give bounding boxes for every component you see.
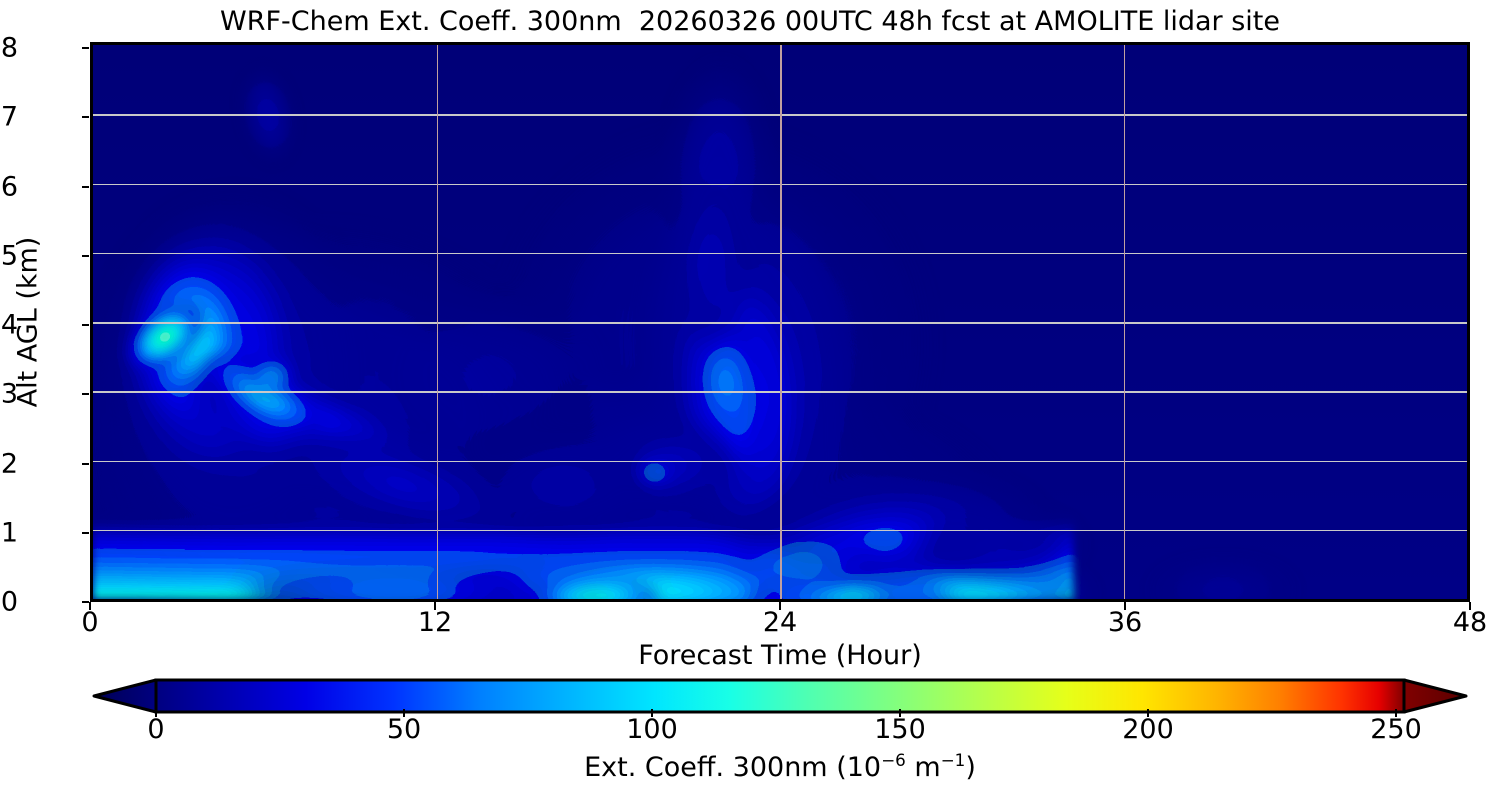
y-tick-label: 7 bbox=[0, 102, 18, 133]
colorbar-tick-label: 50 bbox=[387, 714, 421, 745]
colorbar-gradient bbox=[90, 676, 1470, 716]
colorbar-title: Ext. Coeff. 300nm (10−6 m−1) bbox=[584, 752, 976, 783]
y-tick-label: 0 bbox=[0, 587, 18, 618]
contour-field bbox=[93, 45, 1467, 599]
x-axis-label: Forecast Time (Hour) bbox=[638, 640, 922, 671]
x-tick-label: 0 bbox=[81, 607, 98, 638]
colorbar-tick-label: 250 bbox=[1370, 714, 1422, 745]
colorbar-title-mid: m bbox=[906, 752, 941, 783]
colorbar-tick-label: 150 bbox=[874, 714, 926, 745]
y-tick-label: 8 bbox=[0, 33, 18, 64]
colorbar-title-suffix: ) bbox=[965, 752, 976, 783]
page-title: WRF-Chem Ext. Coeff. 300nm 20260326 00UT… bbox=[0, 6, 1500, 37]
figure-root: WRF-Chem Ext. Coeff. 300nm 20260326 00UT… bbox=[0, 0, 1500, 800]
x-tick-label: 36 bbox=[1108, 607, 1142, 638]
x-tick-label: 24 bbox=[763, 607, 797, 638]
colorbar-tick-label: 100 bbox=[626, 714, 678, 745]
y-tick-label: 1 bbox=[0, 517, 18, 548]
colorbar-title-prefix: Ext. Coeff. 300nm (10 bbox=[584, 752, 881, 783]
x-tick-label: 12 bbox=[418, 607, 452, 638]
colorbar-tick-label: 0 bbox=[147, 714, 164, 745]
colorbar-title-exponent-2: −1 bbox=[941, 750, 966, 770]
y-tick-label: 2 bbox=[0, 448, 18, 479]
colorbar-tick-label: 200 bbox=[1122, 714, 1174, 745]
y-axis-label: Alt AGL (km) bbox=[13, 237, 44, 408]
plot-axes bbox=[90, 42, 1470, 602]
colorbar bbox=[90, 676, 1470, 716]
x-tick-label: 48 bbox=[1453, 607, 1487, 638]
colorbar-title-exponent-1: −6 bbox=[881, 750, 906, 770]
y-tick-label: 6 bbox=[0, 171, 18, 202]
